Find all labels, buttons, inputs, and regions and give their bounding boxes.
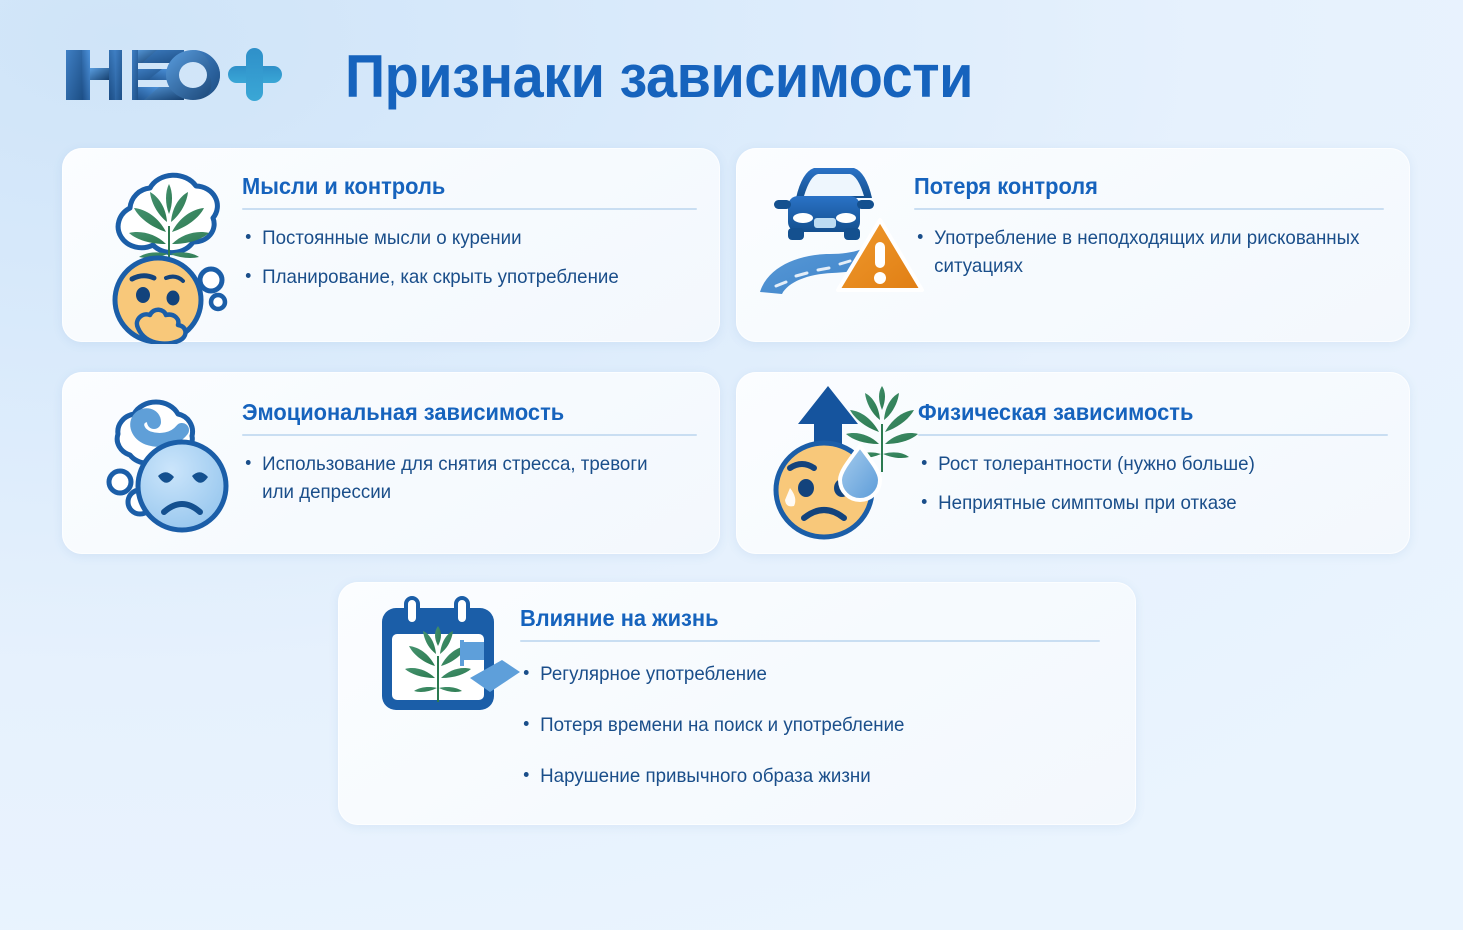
card-content: Эмоциональная зависимость Использование … <box>242 400 697 507</box>
bullet-dot-icon <box>524 670 529 675</box>
card-content: Физическая зависимость Рост толерантност… <box>918 400 1388 518</box>
bullet-dot-icon <box>922 499 927 504</box>
card-heading: Эмоциональная зависимость <box>242 400 674 425</box>
infographic-poster: Признаки зависимости <box>0 0 1463 930</box>
card-loss-of-control: Потеря контроля Употребление в неподходя… <box>736 148 1410 342</box>
list-item: Неприятные симптомы при отказе <box>918 490 1369 518</box>
bullet-list: Рост толерантности (нужно больше) Неприя… <box>918 451 1388 517</box>
list-item: Потеря времени на поиск и употребление <box>520 712 1077 740</box>
bullet-list: Использование для снятия стресса, тревог… <box>242 451 697 506</box>
heading-divider <box>918 434 1388 436</box>
heading-divider <box>520 640 1100 642</box>
page-title: Признаки зависимости <box>345 42 973 111</box>
list-item-text: Рост толерантности (нужно больше) <box>938 453 1255 475</box>
list-item: Регулярное употребление <box>520 661 1077 689</box>
list-item: Постоянные мысли о курении <box>242 225 679 253</box>
list-item: Планирование, как скрыть употребление <box>242 264 679 292</box>
card-physical-dependence: Физическая зависимость Рост толерантност… <box>736 372 1410 554</box>
bullet-dot-icon <box>246 460 251 465</box>
list-item-text: Планирование, как скрыть употребление <box>262 266 619 288</box>
list-item-text: Регулярное употребление <box>540 663 767 685</box>
bullet-list: Регулярное употребление Потеря времени н… <box>520 661 1100 790</box>
card-content: Влияние на жизнь Регулярное употребление… <box>520 606 1100 813</box>
list-item-text: Нарушение привычного образа жизни <box>540 765 871 787</box>
bullet-dot-icon <box>524 772 529 777</box>
card-heading: Мысли и контроль <box>242 174 674 199</box>
list-item: Нарушение привычного образа жизни <box>520 763 1077 791</box>
heading-divider <box>914 208 1384 210</box>
list-item-text: Неприятные симптомы при отказе <box>938 492 1237 514</box>
card-heading: Потеря контроля <box>914 174 1361 199</box>
card-heading: Влияние на жизнь <box>520 606 1071 631</box>
card-emotional-dependence: Эмоциональная зависимость Использование … <box>62 372 720 554</box>
bullet-dot-icon <box>246 273 251 278</box>
card-content: Мысли и контроль Постоянные мысли о куре… <box>242 174 697 292</box>
car-on-winding-road-with-warning-triangle-icon <box>758 162 928 302</box>
poster-header: Признаки зависимости <box>0 0 1463 140</box>
list-item-text: Использование для снятия стресса, тревог… <box>262 453 647 503</box>
bullet-list: Употребление в неподходящих или рискован… <box>914 225 1384 280</box>
bullet-dot-icon <box>918 234 923 239</box>
bullet-dot-icon <box>246 234 251 239</box>
bullet-dot-icon <box>524 721 529 726</box>
thinking-face-with-cannabis-thought-bubble-icon <box>94 164 244 344</box>
card-content: Потеря контроля Употребление в неподходя… <box>914 174 1384 281</box>
list-item-text: Употребление в неподходящих или рискован… <box>934 227 1359 277</box>
blue-sad-face-with-thought-cloud-icon <box>94 390 246 536</box>
bullet-list: Постоянные мысли о курении Планирование,… <box>242 225 697 291</box>
list-item-text: Потеря времени на поиск и употребление <box>540 714 904 736</box>
bullet-dot-icon <box>922 460 927 465</box>
calendar-with-cannabis-leaf-icon <box>376 596 524 716</box>
neo-plus-logo <box>62 44 287 106</box>
card-thoughts-and-control: Мысли и контроль Постоянные мысли о куре… <box>62 148 720 342</box>
list-item: Использование для снятия стресса, тревог… <box>242 451 679 506</box>
list-item: Употребление в неподходящих или рискован… <box>914 225 1365 280</box>
card-impact-on-life: Влияние на жизнь Регулярное употребление… <box>338 582 1136 825</box>
card-heading: Физическая зависимость <box>918 400 1365 425</box>
list-item-text: Постоянные мысли о курении <box>262 227 521 249</box>
heading-divider <box>242 434 697 436</box>
list-item: Рост толерантности (нужно больше) <box>918 451 1369 479</box>
heading-divider <box>242 208 697 210</box>
worried-sweating-face-with-up-arrow-and-leaf-icon <box>756 382 926 542</box>
